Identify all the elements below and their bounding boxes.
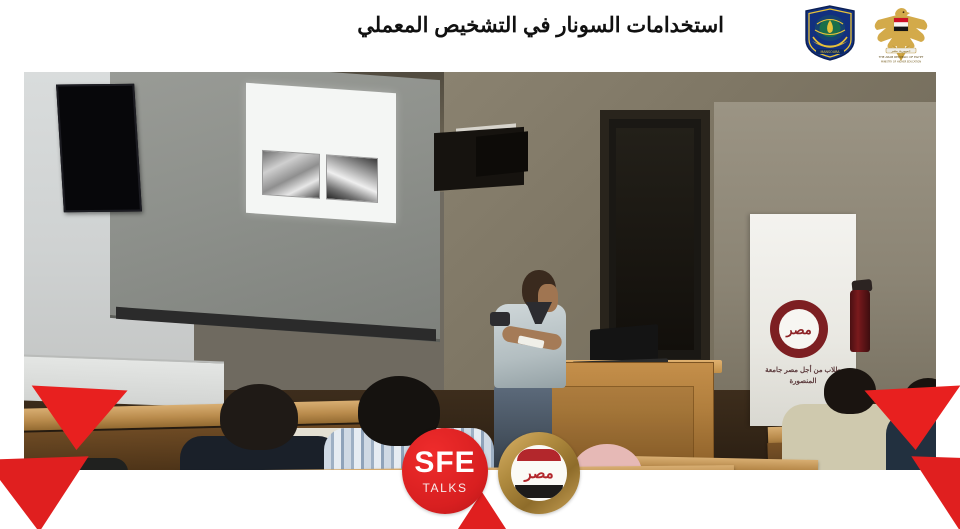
organization-gold-badge-inner: مصر (511, 445, 567, 501)
slide-header: استخدامات السونار في التشخيص المعملي MAN… (0, 0, 960, 72)
red-triangle-decoration (28, 386, 127, 453)
gold-badge-bottom-arc (515, 485, 563, 498)
lecture-hall-photo: مصر طلاب من أجل مصر جامعة المنصورة (24, 72, 936, 470)
university-shield-emblem: MANSOURA (801, 4, 859, 62)
banner-logo-glyph: مصر (786, 323, 811, 336)
presenter-sleeve (490, 312, 510, 326)
egypt-eagle-emblem: جمهورية مصر THE ARAB REPUBLIC OF EGYPT M… (866, 4, 936, 66)
page-title: استخدامات السونار في التشخيص المعملي (24, 14, 724, 38)
svg-text:THE ARAB REPUBLIC OF EGYPT: THE ARAB REPUBLIC OF EGYPT (878, 55, 924, 59)
gold-badge-top-arc (517, 449, 561, 461)
fire-extinguisher (850, 290, 870, 352)
red-triangle-decoration (909, 456, 960, 529)
sfe-talks-badge: SFE TALKS (402, 428, 488, 514)
banner-logo: مصر (770, 300, 828, 358)
sfe-talks-badge-sub-label: TALKS (422, 481, 467, 495)
red-triangle-decoration (864, 386, 960, 453)
projected-slide (246, 83, 396, 223)
gold-badge-glyph: مصر (524, 466, 553, 481)
wall-mounted-television (56, 84, 142, 212)
svg-text:جمهورية مصر: جمهورية مصر (890, 49, 910, 53)
sfe-talks-badge-main-label: SFE (414, 448, 475, 478)
audience-member-head (220, 384, 298, 450)
lecture-hall-door-panel (616, 128, 694, 350)
organization-gold-badge: مصر (498, 432, 580, 514)
projected-slide-image-1 (262, 150, 320, 199)
projected-slide-image-2 (326, 154, 378, 203)
ceiling-projector-unit-front (476, 131, 528, 176)
red-triangle-decoration (0, 456, 91, 529)
banner-logo-inner: مصر (779, 309, 819, 349)
svg-text:MINISTRY OF HIGHER EDUCATION: MINISTRY OF HIGHER EDUCATION (881, 61, 921, 64)
svg-text:MANSOURA: MANSOURA (820, 50, 840, 54)
presentation-slide: مصر طلاب من أجل مصر جامعة المنصورة (0, 0, 960, 529)
